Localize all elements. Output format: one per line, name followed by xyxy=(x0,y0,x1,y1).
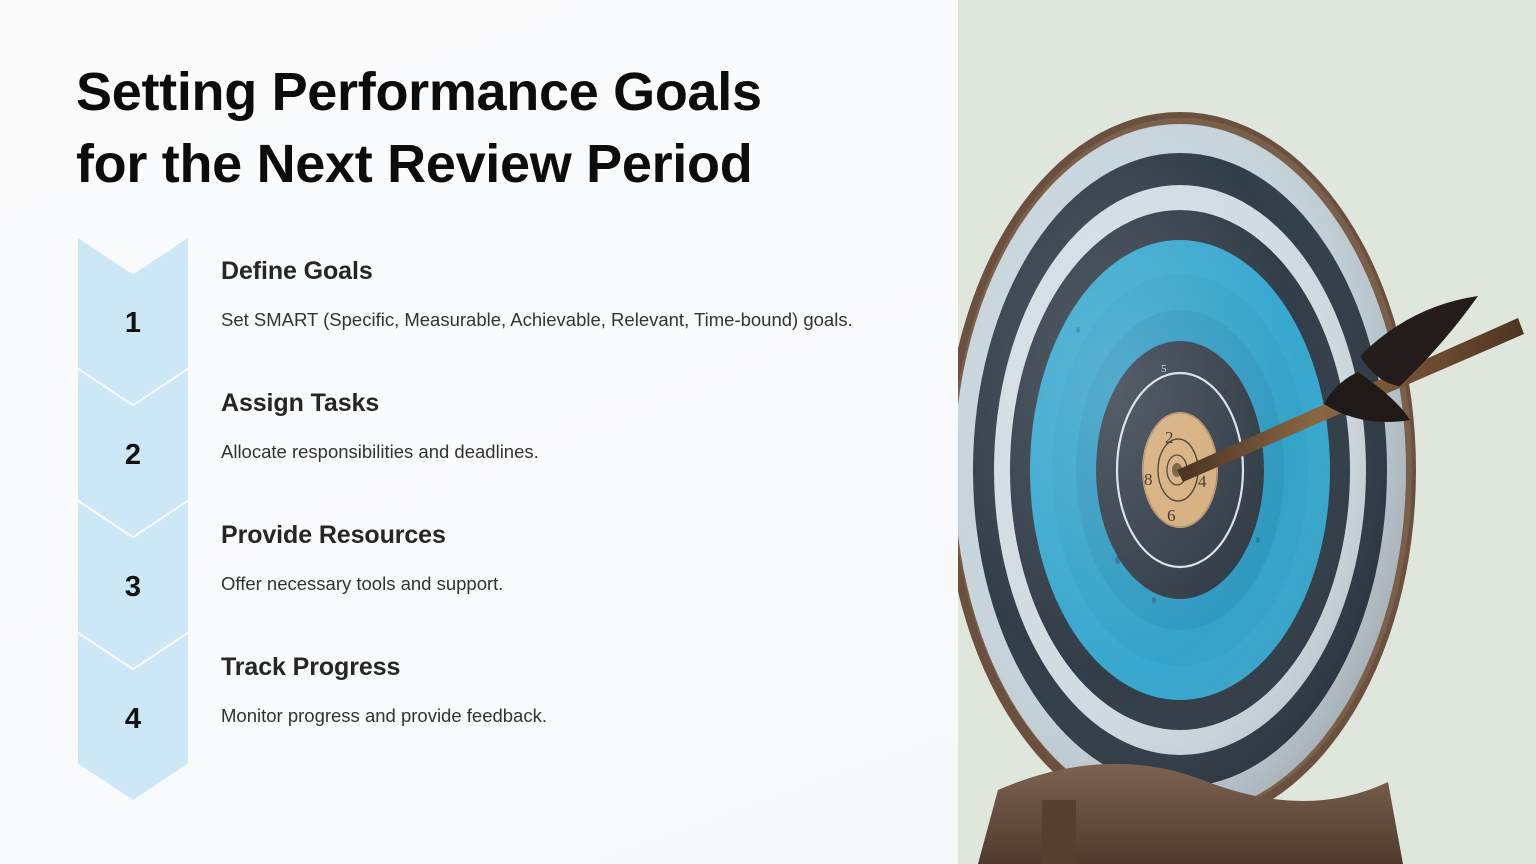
step-heading: Define Goals xyxy=(221,258,881,286)
steps-list: 1 Define Goals Set SMART (Specific, Meas… xyxy=(0,238,958,766)
step-text-block: Provide Resources Offer necessary tools … xyxy=(221,522,881,602)
step-number: 4 xyxy=(125,705,141,734)
list-item: 2 Assign Tasks Allocate responsibilities… xyxy=(0,370,958,502)
step-number: 2 xyxy=(125,441,141,470)
step-chevron-badge: 4 xyxy=(78,634,188,800)
step-number: 3 xyxy=(125,573,141,602)
list-item: 3 Provide Resources Offer necessary tool… xyxy=(0,502,958,634)
step-description: Offer necessary tools and support. xyxy=(221,566,861,602)
step-description: Set SMART (Specific, Measurable, Achieva… xyxy=(221,302,861,338)
content-panel: Setting Performance Goals for the Next R… xyxy=(0,0,958,864)
step-description: Allocate responsibilities and deadlines. xyxy=(221,434,861,470)
stand-leg xyxy=(1042,800,1076,864)
step-heading: Provide Resources xyxy=(221,522,881,550)
step-text-block: Define Goals Set SMART (Specific, Measur… xyxy=(221,258,881,338)
slide-canvas: Setting Performance Goals for the Next R… xyxy=(0,0,1536,864)
step-number: 1 xyxy=(125,309,141,338)
step-text-block: Track Progress Monitor progress and prov… xyxy=(221,654,881,734)
archery-target-image: 2 8 4 6 5 xyxy=(958,0,1536,864)
photo-content: 2 8 4 6 5 xyxy=(958,0,1536,864)
step-heading: Assign Tasks xyxy=(221,390,881,418)
page-title: Setting Performance Goals for the Next R… xyxy=(76,57,876,201)
list-item: 1 Define Goals Set SMART (Specific, Meas… xyxy=(0,238,958,370)
step-description: Monitor progress and provide feedback. xyxy=(221,698,861,734)
step-text-block: Assign Tasks Allocate responsibilities a… xyxy=(221,390,881,470)
photo-panel: 2 8 4 6 5 xyxy=(958,0,1536,864)
list-item: 4 Track Progress Monitor progress and pr… xyxy=(0,634,958,766)
step-heading: Track Progress xyxy=(221,654,881,682)
